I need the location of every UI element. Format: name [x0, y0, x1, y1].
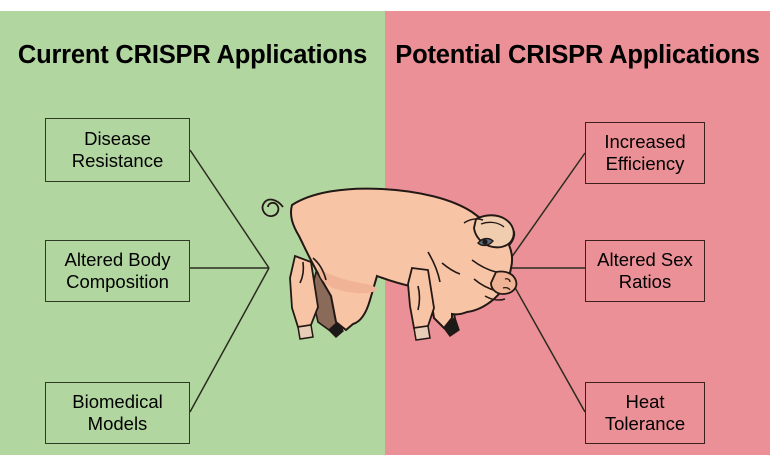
node-label-line: Composition: [66, 271, 169, 293]
node-label-line: Resistance: [72, 150, 164, 172]
connector-disease-resistance: [190, 150, 269, 268]
node-heat-tolerance[interactable]: Heat Tolerance: [585, 382, 705, 444]
node-label-line: Models: [88, 413, 148, 435]
pig-hind-hoof-near: [298, 325, 313, 339]
node-increased-efficiency[interactable]: Increased Efficiency: [585, 122, 705, 184]
pig-snout: [491, 271, 516, 294]
connector-biomedical-models: [190, 268, 269, 412]
node-label-line: Altered Sex: [597, 249, 693, 271]
node-biomedical-models[interactable]: Biomedical Models: [45, 382, 190, 444]
node-label-line: Increased: [604, 131, 685, 153]
node-altered-body-composition[interactable]: Altered Body Composition: [45, 240, 190, 302]
pig-illustration: [263, 189, 517, 340]
connector-increased-efficiency: [504, 153, 585, 268]
node-label-line: Tolerance: [605, 413, 685, 435]
node-label-line: Biomedical: [72, 391, 163, 413]
pig-tail: [263, 200, 283, 217]
node-disease-resistance[interactable]: Disease Resistance: [45, 118, 190, 182]
crispr-applications-figure: Current CRISPR Applications Potential CR…: [0, 0, 770, 455]
node-label-line: Ratios: [619, 271, 671, 293]
node-label-line: Heat: [625, 391, 664, 413]
node-altered-sex-ratios[interactable]: Altered Sex Ratios: [585, 240, 705, 302]
node-label-line: Disease: [84, 128, 151, 150]
node-label-line: Efficiency: [606, 153, 685, 175]
connector-heat-tolerance: [504, 268, 585, 412]
pig-front-hoof-near: [414, 326, 430, 340]
node-label-line: Altered Body: [65, 249, 171, 271]
